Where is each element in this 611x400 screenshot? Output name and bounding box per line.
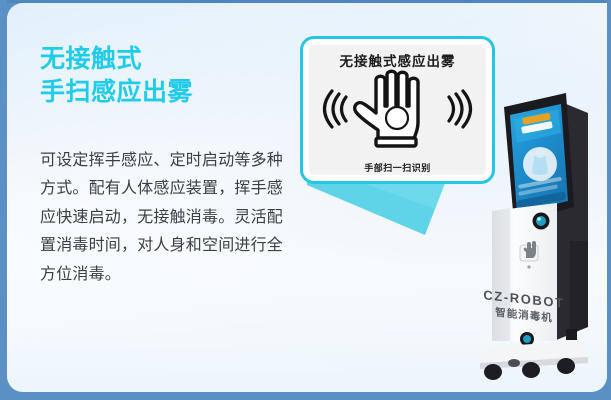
frame-right-edge: [607, 0, 611, 400]
content-card: 无接触式 手扫感应出雾 可设定挥手感应、定时启动等多种方式。配有人体感应装置，挥…: [7, 3, 607, 392]
frame-bottom-edge: [0, 392, 611, 400]
headline: 无接触式 手扫感应出雾: [40, 43, 300, 109]
body-paragraph: 可设定挥手感应、定时启动等多种方式。配有人体感应装置，挥手感应快速启动，无接触消…: [40, 147, 292, 289]
headline-line-1: 无接触式: [40, 45, 142, 73]
hand-icon: [355, 71, 418, 146]
frame-left-edge: [0, 0, 7, 400]
headline-line-2: 手扫感应出雾: [40, 76, 300, 109]
promo-banner: 无接触式 手扫感应出雾 可设定挥手感应、定时启动等多种方式。配有人体感应装置，挥…: [0, 0, 611, 400]
sensor-wave-left-icon: [325, 91, 347, 127]
kiosk-side-shadow: [570, 241, 588, 331]
kiosk-rear-port: [566, 329, 577, 340]
disinfection-kiosk: CZ-ROBOT 智能消毒机: [462, 91, 607, 391]
kiosk-body-shade: [492, 208, 510, 341]
